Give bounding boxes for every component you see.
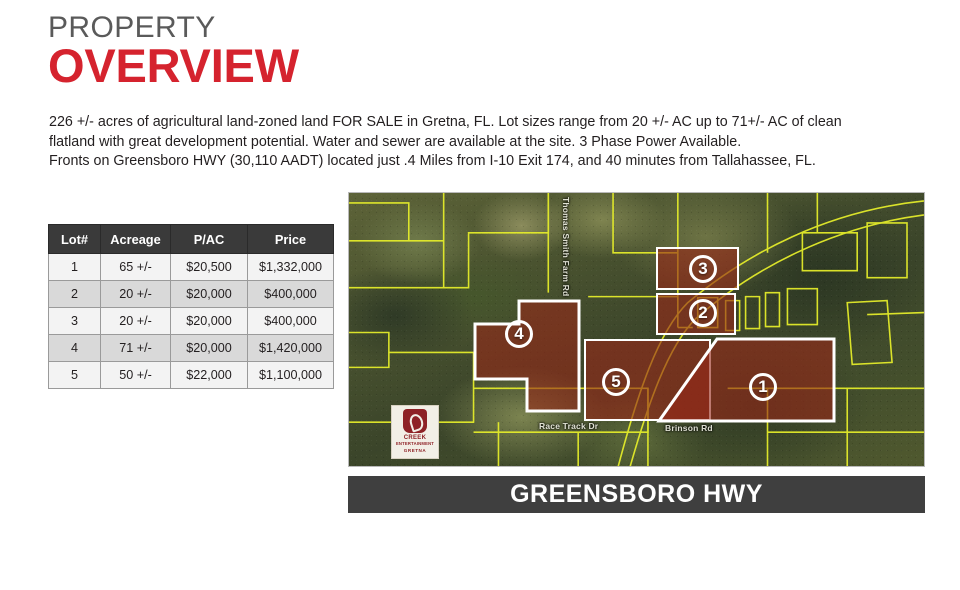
page-header: PROPERTY OVERVIEW bbox=[48, 12, 299, 89]
greensboro-hwy-banner: GREENSBORO HWY bbox=[348, 476, 925, 513]
road-label-thomas-smith-farm-rd: Thomas Smith Farm Rd bbox=[561, 197, 571, 296]
creek-logo-icon bbox=[403, 409, 427, 433]
description-line-2: flatland with great development potentia… bbox=[49, 133, 909, 153]
table-row: 3 20 +/- $20,000 $400,000 bbox=[49, 308, 334, 335]
aerial-map-image: 3 2 1 4 5 Thomas Smith Farm Rd Race Trac… bbox=[348, 192, 925, 467]
cell-price: $1,100,000 bbox=[248, 362, 334, 389]
table-row: 4 71 +/- $20,000 $1,420,000 bbox=[49, 335, 334, 362]
lot-marker-4: 4 bbox=[505, 320, 533, 348]
road-label-brinson-rd: Brinson Rd bbox=[665, 423, 713, 433]
lot-marker-3: 3 bbox=[689, 255, 717, 283]
column-header-price-per-acre: P/AC bbox=[171, 225, 248, 254]
cell-lot: 4 bbox=[49, 335, 101, 362]
property-map-panel: 3 2 1 4 5 Thomas Smith Farm Rd Race Trac… bbox=[348, 192, 925, 513]
cell-price-per-acre: $20,500 bbox=[171, 254, 248, 281]
creek-logo-line2: ENTERTAINMENT bbox=[396, 441, 434, 446]
cell-price-per-acre: $20,000 bbox=[171, 308, 248, 335]
column-header-lot: Lot# bbox=[49, 225, 101, 254]
cell-price: $400,000 bbox=[248, 308, 334, 335]
table-row: 1 65 +/- $20,500 $1,332,000 bbox=[49, 254, 334, 281]
cell-price: $400,000 bbox=[248, 281, 334, 308]
cell-lot: 3 bbox=[49, 308, 101, 335]
creek-entertainment-logo: CREEK ENTERTAINMENT GRETNA bbox=[391, 405, 439, 459]
page-title-overview: OVERVIEW bbox=[48, 42, 299, 90]
description-line-1: 226 +/- acres of agricultural land-zoned… bbox=[49, 113, 909, 133]
cell-price-per-acre: $20,000 bbox=[171, 335, 248, 362]
cell-acreage: 71 +/- bbox=[101, 335, 171, 362]
description-line-3: Fronts on Greensboro HWY (30,110 AADT) l… bbox=[49, 152, 909, 172]
road-label-race-track-dr: Race Track Dr bbox=[539, 421, 598, 431]
cell-lot: 5 bbox=[49, 362, 101, 389]
table-header-row: Lot# Acreage P/AC Price bbox=[49, 225, 334, 254]
column-header-price: Price bbox=[248, 225, 334, 254]
cell-lot: 1 bbox=[49, 254, 101, 281]
lot-marker-5: 5 bbox=[602, 368, 630, 396]
cell-acreage: 50 +/- bbox=[101, 362, 171, 389]
table-row: 2 20 +/- $20,000 $400,000 bbox=[49, 281, 334, 308]
cell-price-per-acre: $22,000 bbox=[171, 362, 248, 389]
lot-pricing-table-container: Lot# Acreage P/AC Price 1 65 +/- $20,500… bbox=[48, 224, 334, 389]
table-row: 5 50 +/- $22,000 $1,100,000 bbox=[49, 362, 334, 389]
cell-acreage: 65 +/- bbox=[101, 254, 171, 281]
lot-marker-2: 2 bbox=[689, 299, 717, 327]
cell-acreage: 20 +/- bbox=[101, 281, 171, 308]
creek-logo-line3: GRETNA bbox=[404, 448, 426, 453]
cell-price: $1,332,000 bbox=[248, 254, 334, 281]
lot-pricing-table: Lot# Acreage P/AC Price 1 65 +/- $20,500… bbox=[48, 224, 334, 389]
cell-acreage: 20 +/- bbox=[101, 308, 171, 335]
cell-price: $1,420,000 bbox=[248, 335, 334, 362]
cell-lot: 2 bbox=[49, 281, 101, 308]
cell-price-per-acre: $20,000 bbox=[171, 281, 248, 308]
property-description: 226 +/- acres of agricultural land-zoned… bbox=[49, 113, 909, 172]
column-header-acreage: Acreage bbox=[101, 225, 171, 254]
lot-marker-1: 1 bbox=[749, 373, 777, 401]
